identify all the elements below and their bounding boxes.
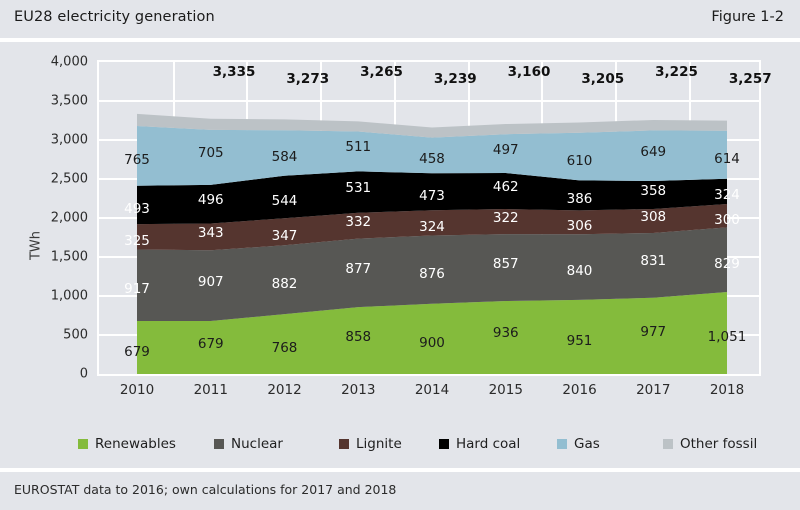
page-title: EU28 electricity generation — [14, 9, 215, 25]
legend-item-label: Nuclear — [231, 436, 283, 452]
legend-item-other-fossil[interactable]: Other fossil — [663, 432, 757, 456]
total-labels-row: 3,3353,2733,2653,2393,1603,2053,2253,257… — [97, 64, 761, 90]
total-value-label: 3,239 — [434, 71, 477, 87]
legend-swatch-icon — [439, 439, 449, 449]
legend-item-hard-coal[interactable]: Hard coal — [439, 432, 520, 456]
legend-item-label: Hard coal — [456, 436, 520, 452]
total-value-label: 3,160 — [508, 64, 551, 80]
stacked-area-series — [99, 62, 759, 374]
total-value-label: 3,265 — [360, 64, 403, 80]
legend-item-label: Renewables — [95, 436, 176, 452]
total-value-label: 3,205 — [581, 71, 624, 87]
x-axis-ticks: 201020112012201320142015201620172018 — [97, 382, 761, 404]
legend-swatch-icon — [663, 439, 673, 449]
y-axis-tick-label: 3,500 — [26, 94, 88, 109]
y-axis-tick-label: 0 — [26, 367, 88, 382]
figure-header: EU28 electricity generation Figure 1-2 — [0, 0, 800, 38]
total-value-label: 3,225 — [655, 64, 698, 80]
x-axis-tick-label: 2014 — [415, 382, 449, 398]
chart-legend: RenewablesNuclearLigniteHard coalGasOthe… — [0, 432, 800, 462]
y-axis-tick-label: 4,000 — [26, 55, 88, 70]
figure-page: EU28 electricity generation Figure 1-2 T… — [0, 0, 800, 510]
x-axis-tick-label: 2015 — [489, 382, 523, 398]
legend-swatch-icon — [339, 439, 349, 449]
x-axis-tick-label: 2018 — [710, 382, 744, 398]
legend-swatch-icon — [557, 439, 567, 449]
plot-box — [97, 60, 761, 376]
x-axis-tick-label: 2013 — [341, 382, 375, 398]
y-axis-tick-label: 2,500 — [26, 172, 88, 187]
legend-item-renewables[interactable]: Renewables — [78, 432, 176, 456]
x-axis-tick-label: 2010 — [120, 382, 154, 398]
x-axis-tick-label: 2011 — [194, 382, 228, 398]
x-axis-tick-label: 2017 — [636, 382, 670, 398]
y-axis-tick-label: 500 — [26, 328, 88, 343]
legend-item-nuclear[interactable]: Nuclear — [214, 432, 283, 456]
legend-swatch-icon — [214, 439, 224, 449]
y-axis-tick-label: 3,000 — [26, 133, 88, 148]
y-axis-ticks: 05001,0001,5002,0002,5003,0003,5004,000 — [26, 42, 88, 392]
y-axis-tick-label: 1,000 — [26, 289, 88, 304]
legend-item-label: Gas — [574, 436, 600, 452]
legend-item-label: Lignite — [356, 436, 402, 452]
total-value-label: 3,273 — [286, 71, 329, 87]
total-value-label: 3,335 — [213, 64, 256, 80]
y-axis-tick-label: 1,500 — [26, 250, 88, 265]
legend-item-lignite[interactable]: Lignite — [339, 432, 402, 456]
legend-swatch-icon — [78, 439, 88, 449]
footer-divider — [0, 468, 800, 472]
figure-number: Figure 1-2 — [711, 9, 784, 25]
plot-inner — [99, 62, 759, 374]
chart-area: TWh 05001,0001,5002,0002,5003,0003,5004,… — [0, 42, 800, 465]
total-value-label: 3,257 — [729, 71, 772, 87]
x-axis-tick-label: 2012 — [267, 382, 301, 398]
legend-item-gas[interactable]: Gas — [557, 432, 600, 456]
legend-item-label: Other fossil — [680, 436, 757, 452]
x-axis-tick-label: 2016 — [562, 382, 596, 398]
y-axis-tick-label: 2,000 — [26, 211, 88, 226]
source-note: EUROSTAT data to 2016; own calculations … — [14, 482, 396, 497]
